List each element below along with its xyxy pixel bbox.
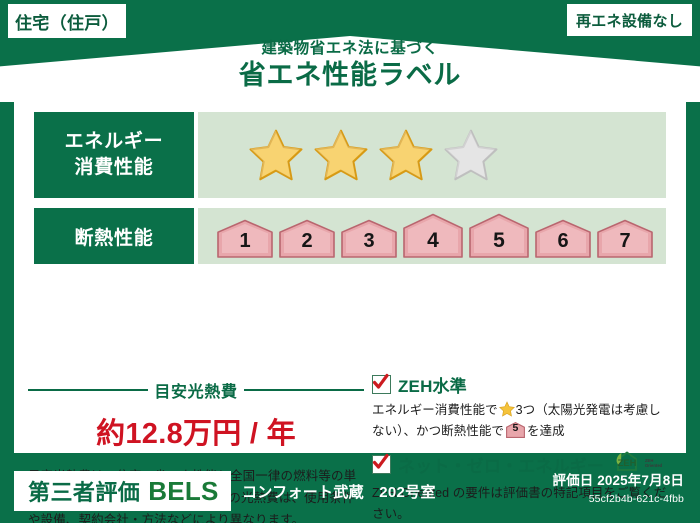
check-body-pre: エネルギー消費性能で [372, 403, 498, 417]
star-empty-icon [443, 127, 499, 183]
insulation-performance-label: 断熱性能 [34, 208, 194, 264]
star-filled-icon [378, 127, 434, 183]
footer-evaluation-id: 55cf2b4b-621c-4fbb [552, 493, 684, 505]
energy-label-line1: エネルギー [65, 129, 164, 155]
check-title-zeh-standard: ZEH水準 [398, 372, 467, 397]
energy-label-line2: 消費性能 [74, 155, 153, 181]
insulation-grade-number: 4 [427, 229, 439, 259]
inline-grade-chip: 5 [506, 422, 525, 438]
insulation-grade-number: 1 [239, 230, 250, 259]
check-block-zeh-standard: ZEH水準 エネルギー消費性能で3つ（太陽光発電は考慮しない）、かつ断熱性能で5… [372, 372, 672, 443]
insulation-grade-chip: 6 [534, 219, 592, 259]
badge-building-type: 住宅（住戸） [8, 4, 126, 38]
insulation-performance-value: 1234567 [198, 208, 666, 264]
star-rating [248, 127, 499, 183]
inline-grade-number: 5 [506, 420, 525, 438]
banner: 建築物省エネ法に基づく 省エネ性能ラベル [0, 40, 700, 93]
footer-third-party-label: 第三者評価 [28, 475, 140, 507]
cost-heading: 目安光熱費 [28, 378, 364, 402]
check-head-zeh-standard: ZEH水準 [372, 372, 672, 397]
insulation-grade-number: 6 [557, 230, 568, 259]
insulation-grade-number: 3 [363, 230, 374, 259]
insulation-grade-chip: 2 [278, 219, 336, 259]
insulation-grade-number: 7 [619, 230, 630, 259]
banner-subtitle: 建築物省エネ法に基づく [0, 40, 700, 57]
star-filled-icon [248, 127, 304, 183]
badge-renewable-equipment: 再エネ設備なし [567, 4, 692, 36]
check-body-post: を達成 [527, 424, 565, 438]
energy-performance-label: エネルギー 消費性能 [34, 112, 194, 198]
insulation-grade-chip: 5 [468, 213, 530, 259]
banner-title: 省エネ性能ラベル [0, 59, 700, 93]
insulation-grade-chip: 1 [216, 219, 274, 259]
insulation-grade-number: 2 [301, 230, 312, 259]
energy-performance-row: エネルギー 消費性能 [34, 112, 666, 198]
energy-label-root: 住宅（住戸） 再エネ設備なし 建築物省エネ法に基づく 省エネ性能ラベル エネルギ… [0, 0, 700, 523]
footer-bels-plate: 第三者評価 BELS [14, 471, 231, 511]
energy-performance-value [198, 112, 666, 198]
cost-heading-text: 目安光熱費 [154, 378, 237, 402]
footer: 第三者評価 BELS コンフォート武蔵 202号室 評価日 2025年7月8日 … [0, 461, 700, 523]
insulation-grade-chip: 7 [596, 219, 654, 259]
footer-evaluation-date: 評価日 2025年7月8日 [552, 469, 684, 489]
cost-amount: 約12.8万円 / 年 [28, 410, 364, 452]
insulation-grade-scale: 1234567 [216, 213, 654, 259]
insulation-performance-row: 断熱性能 1234567 [34, 208, 666, 264]
rule-right [244, 389, 364, 391]
footer-evaluation-info: 評価日 2025年7月8日 55cf2b4b-621c-4fbb [552, 469, 684, 505]
checkbox-checked-icon[interactable] [372, 375, 391, 394]
main-card: エネルギー 消費性能 断熱性能 1234567 目安光熱費 約12.8万 [14, 100, 686, 453]
insulation-grade-number: 5 [493, 229, 505, 259]
check-body-zeh-standard: エネルギー消費性能で3つ（太陽光発電は考慮しない）、かつ断熱性能で5を達成 [372, 400, 672, 443]
insulation-grade-chip: 4 [402, 213, 464, 259]
insulation-grade-chip: 3 [340, 219, 398, 259]
star-filled-icon [313, 127, 369, 183]
inline-star-icon [499, 401, 515, 417]
footer-bels-label: BELS [148, 476, 218, 507]
rule-left [28, 389, 148, 391]
footer-building-name: コンフォート武蔵 202号室 [242, 471, 436, 511]
